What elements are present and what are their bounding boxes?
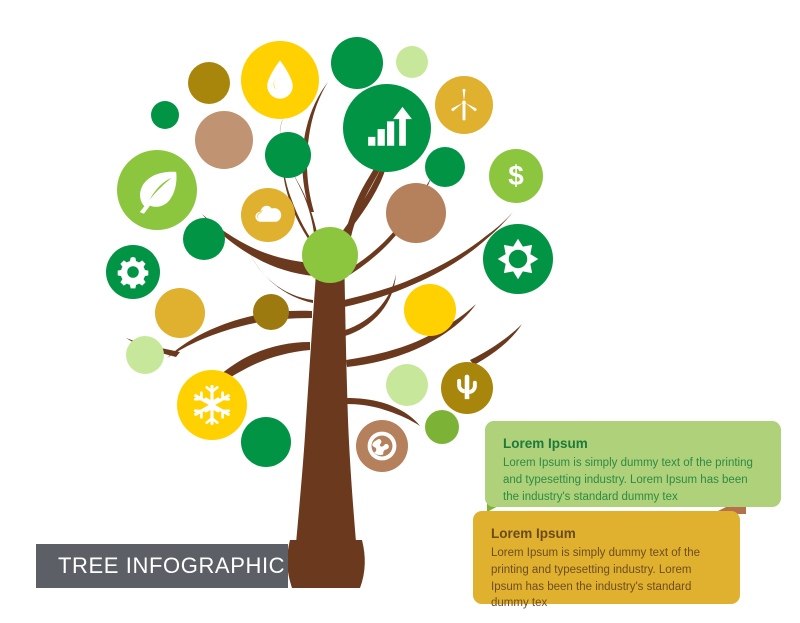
callout-green-body: Lorem Ipsum is simply dummy text of the … [503, 455, 763, 505]
leaf-dot-pale-top [396, 46, 428, 78]
gear-circle [106, 245, 160, 299]
leaf-dot-olive-mid [253, 294, 289, 330]
leaf-dot-lime-lower [425, 410, 459, 444]
icon-circle-snowflake[interactable] [177, 370, 247, 440]
leaf-dot-pale-right [386, 364, 428, 406]
leaf-dot-green-left [183, 218, 225, 260]
icon-circle-dollar[interactable] [489, 149, 543, 203]
icon-circle-globe[interactable] [356, 420, 408, 472]
icon-circle-leaf[interactable] [117, 150, 197, 230]
leaf-dot-green-small [151, 101, 179, 129]
leaf-dot-tan-mid [386, 183, 446, 243]
leaf-dot-green-lower [241, 417, 291, 467]
globe-circle [356, 420, 408, 472]
icon-circle-growth-chart[interactable] [343, 84, 431, 172]
callout-green[interactable]: Lorem Ipsum Lorem Ipsum is simply dummy … [485, 421, 781, 507]
title-banner: TREE INFOGRAPHIC [36, 544, 288, 588]
leaf-dot-green-right [425, 147, 465, 187]
callout-gold-title: Lorem Ipsum [491, 525, 722, 543]
leaf-dot-olive [188, 62, 230, 104]
callout-gold-body: Lorem Ipsum is simply dummy text of the … [491, 545, 722, 612]
leaf-circle [117, 150, 197, 230]
icon-circle-cactus[interactable] [441, 362, 493, 414]
leaf-dot-pale-left [126, 336, 164, 374]
icon-circle-wind-turbine[interactable] [435, 76, 493, 134]
leaf-dot-green-mid [265, 132, 311, 178]
leaf-dot-gold-left [155, 288, 205, 338]
leaf-dot-tan-upper [195, 111, 253, 169]
icon-circle-sun[interactable] [483, 224, 553, 294]
leaf-dot-lime-center [302, 227, 358, 283]
leaf-dot-green-top [331, 37, 383, 89]
callout-gold[interactable]: Lorem Ipsum Lorem Ipsum is simply dummy … [473, 511, 740, 604]
icon-circle-gear[interactable] [106, 245, 160, 299]
icon-circle-cloud[interactable] [241, 188, 295, 242]
dollar-icon [508, 160, 524, 191]
icon-circle-water-drop[interactable] [241, 41, 319, 119]
page-title: TREE INFOGRAPHIC [36, 553, 285, 579]
callout-green-title: Lorem Ipsum [503, 435, 763, 453]
leaf-dot-yellow-right [404, 284, 456, 336]
infographic-canvas: $ [0, 0, 800, 623]
